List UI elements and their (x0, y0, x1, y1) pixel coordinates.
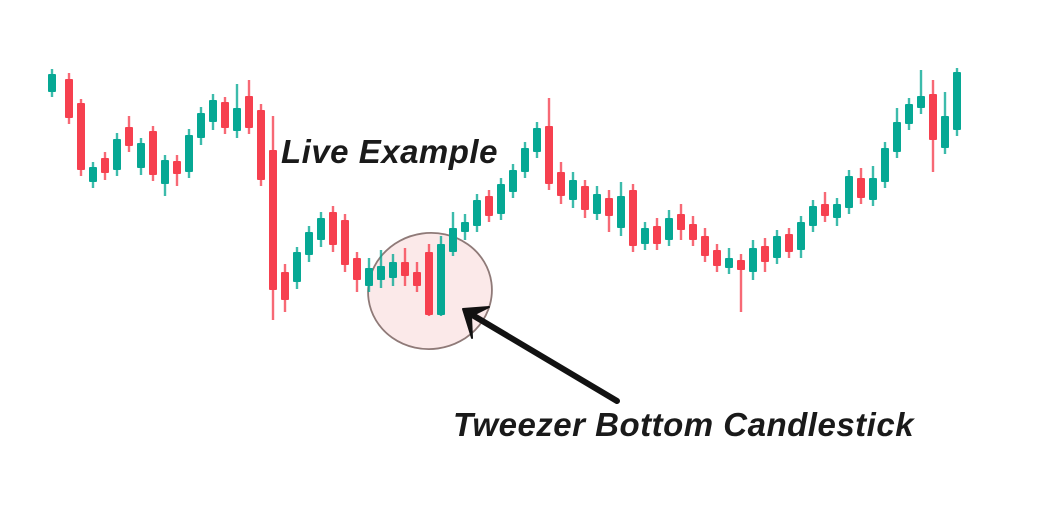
candle-body (425, 252, 433, 315)
candle-body (209, 100, 217, 122)
candle-body (365, 268, 373, 286)
candle-body (413, 272, 421, 286)
candle-body (701, 236, 709, 256)
candle-body (629, 190, 637, 246)
live-example-label: Live Example (281, 133, 498, 171)
candle-body (617, 196, 625, 228)
candle-body (533, 128, 541, 152)
candle-body (905, 104, 913, 124)
candle-body (941, 116, 949, 148)
candle-body (581, 186, 589, 210)
candle-body (485, 196, 493, 216)
candle-body (953, 72, 961, 130)
candle-body (893, 122, 901, 152)
candle-body (317, 218, 325, 240)
candle-body (665, 218, 673, 240)
candlestick-series (48, 68, 961, 320)
candle-body (593, 194, 601, 214)
candle-body (473, 200, 481, 226)
candle-body (185, 135, 193, 172)
candle-body (245, 96, 253, 128)
candle-body (641, 228, 649, 244)
candle-body (545, 126, 553, 184)
candle-body (749, 248, 757, 272)
candle-body (377, 266, 385, 280)
candle-body (113, 139, 121, 170)
candle-body (221, 102, 229, 128)
candle-body (881, 148, 889, 182)
candle-body (569, 180, 577, 200)
candle-body (329, 212, 337, 245)
candlestick-chart-illustration: Live Example Tweezer Bottom Candlestick (0, 0, 1041, 527)
candle-body (401, 262, 409, 276)
candle-body (761, 246, 769, 262)
candle-body (48, 74, 56, 92)
candle-body (521, 148, 529, 172)
candle-body (785, 234, 793, 252)
candle-body (773, 236, 781, 258)
candle-body (737, 260, 745, 270)
candle-body (257, 110, 265, 180)
candle-body (689, 224, 697, 240)
candle-body (821, 204, 829, 216)
candle-body (929, 94, 937, 140)
candle-body (509, 170, 517, 192)
candle-body (677, 214, 685, 230)
candle-body (233, 108, 241, 131)
candle-body (125, 127, 133, 146)
tweezer-bottom-label: Tweezer Bottom Candlestick (453, 406, 914, 444)
candle-body (293, 252, 301, 282)
candle-body (653, 226, 661, 244)
candle-body (269, 150, 277, 290)
candle-body (77, 103, 85, 170)
candle-body (845, 176, 853, 208)
candlestick-chart-canvas (0, 0, 1041, 527)
candle-body (161, 160, 169, 184)
candle-body (857, 178, 865, 198)
candle-body (725, 258, 733, 268)
candle-body (797, 222, 805, 250)
candle-body (437, 244, 445, 315)
candle-body (197, 113, 205, 138)
candle-body (305, 232, 313, 255)
candle-body (65, 79, 73, 118)
arrow-shaft (469, 313, 617, 401)
candle-body (833, 204, 841, 218)
candle-body (389, 262, 397, 278)
candle-body (713, 250, 721, 266)
candle-body (461, 222, 469, 232)
candle-body (341, 220, 349, 265)
candle-body (89, 167, 97, 182)
candle-body (137, 143, 145, 168)
candle-body (101, 158, 109, 173)
candle-body (353, 258, 361, 280)
candle-body (497, 184, 505, 214)
candle-body (449, 228, 457, 252)
candle-body (557, 172, 565, 196)
candle-body (917, 96, 925, 108)
candle-body (869, 178, 877, 200)
pattern-callout-arrow (463, 307, 617, 401)
candle-body (149, 131, 157, 175)
candle-body (809, 206, 817, 226)
candle-body (173, 161, 181, 174)
candle-body (605, 198, 613, 216)
candle-body (281, 272, 289, 300)
